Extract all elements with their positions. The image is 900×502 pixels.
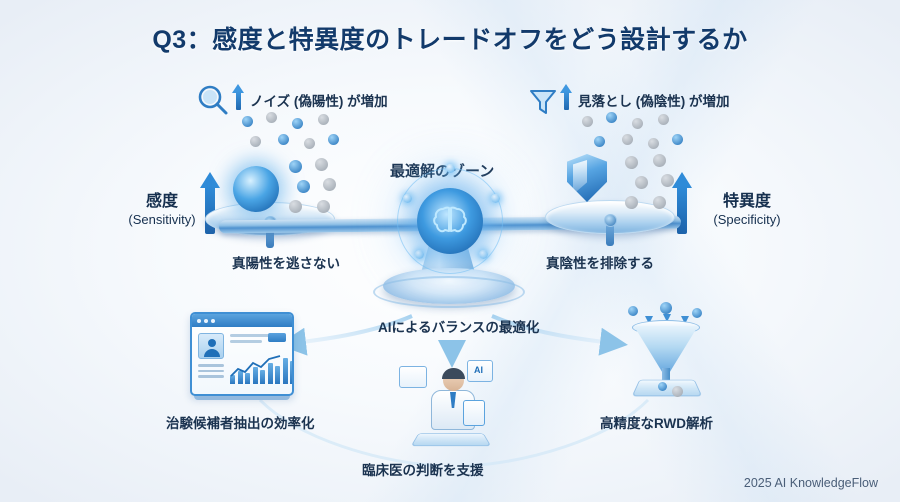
avatar: [198, 333, 224, 359]
dashboard-trend-line: [230, 354, 288, 384]
network-node: [446, 164, 455, 173]
balance-scale: [205, 150, 695, 310]
dashboard-titlebar: [192, 314, 292, 327]
network-node: [479, 250, 488, 259]
axis-label-sensitivity: 感度 (Sensitivity): [112, 192, 212, 228]
annotation-top-left-label: ノイズ (偽陽性) が増加: [250, 90, 388, 110]
outcome-label-rwd-analysis: 高精度なRWD解析: [600, 412, 713, 432]
scale-base-ring: [373, 276, 525, 308]
dashboard-sidelines: [198, 364, 224, 381]
dashboard-chip: [268, 333, 286, 342]
slide-canvas: Q3：感度と特異度のトレードオフをどう設計するか ノイズ (偽陽性) が増加 見…: [0, 0, 900, 502]
axis-label-specificity: 特異度 (Specificity): [692, 192, 802, 228]
funnel-cone: [634, 326, 698, 372]
page-title: Q3：感度と特異度のトレードオフをどう設計するか: [0, 20, 900, 56]
network-node: [491, 194, 500, 203]
up-arrow-icon-left: [232, 84, 244, 110]
doctor-side-card-left: [399, 366, 427, 388]
doctor-side-card-right: AI: [467, 360, 493, 382]
outcome-label-trial-candidates: 治験候補者抽出の効率化: [166, 412, 315, 432]
outcome-label-clinician-support: 臨床医の判断を支援: [362, 459, 484, 479]
right-pan-dots: [625, 156, 687, 210]
annotation-top-right-label: 見落とし (偽陰性) が増加: [578, 90, 730, 110]
pan-right-caption: 真陰性を排除する: [546, 252, 654, 272]
scale-pivot-right: [604, 214, 617, 227]
axis-specificity-jp: 特異度: [692, 192, 802, 212]
doctor-hair: [442, 368, 465, 379]
funnel-filter-icon: [618, 306, 714, 402]
dashboard-window-icon: [190, 312, 294, 396]
scale-pan-right-stem: [606, 224, 614, 246]
left-pan-dots: [289, 160, 351, 214]
dashboard-headerlines: [230, 334, 272, 346]
network-node: [403, 194, 412, 203]
molecule-sphere-icon: [233, 166, 279, 212]
funnel-base-plate: [632, 380, 703, 397]
network-node: [415, 250, 424, 259]
ai-brain-icon: [417, 188, 483, 254]
doctor-icon: AI: [405, 356, 497, 448]
footer-credit: 2025 AI KnowledgeFlow: [744, 476, 878, 490]
shield-icon: [567, 154, 607, 202]
center-caption: AIによるバランスの最適化: [378, 316, 539, 336]
dashboard-frame: [190, 312, 294, 396]
doctor-base-plate: [411, 433, 492, 446]
magnifier-icon: [196, 84, 230, 116]
doctor-clipboard: [463, 400, 485, 426]
axis-sensitivity-jp: 感度: [112, 192, 212, 212]
axis-specificity-en: (Specificity): [692, 212, 802, 228]
up-arrow-icon-right: [560, 84, 572, 110]
funnel-icon: [528, 86, 558, 116]
pan-left-caption: 真陽性を逃さない: [232, 252, 340, 272]
axis-sensitivity-en: (Sensitivity): [112, 212, 212, 228]
